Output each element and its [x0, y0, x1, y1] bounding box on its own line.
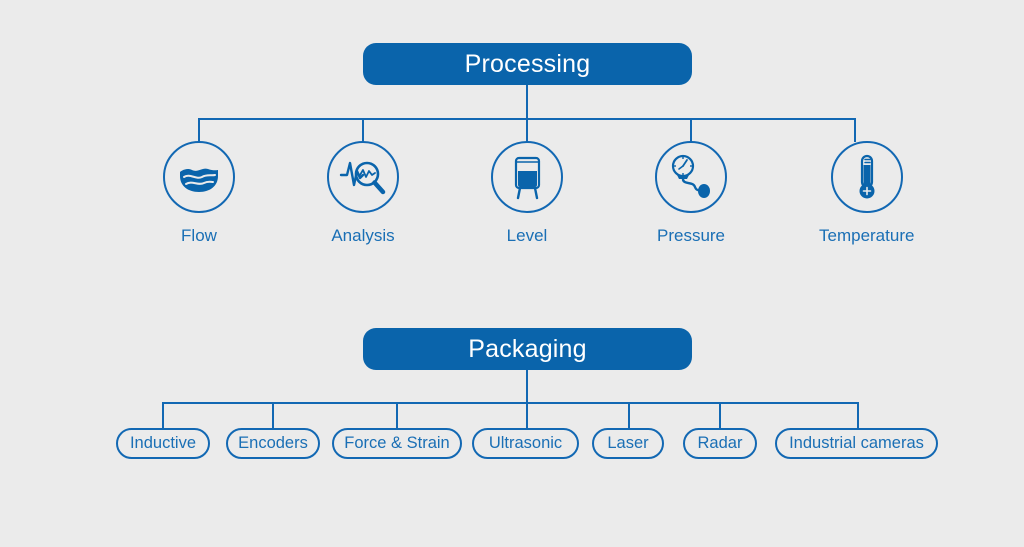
chip-radar[interactable]: Radar	[683, 428, 757, 459]
processing-drop-line-level	[526, 118, 528, 142]
chip-radar-label: Radar	[698, 434, 743, 453]
processing-drop-line-flow	[198, 118, 200, 142]
processing-drop-line-pressure	[690, 118, 692, 142]
packaging-drop-line-force-strain	[396, 402, 398, 429]
chip-inductive[interactable]: Inductive	[116, 428, 210, 459]
node-level[interactable]: Level	[491, 141, 563, 246]
flow-wave-icon	[176, 154, 222, 200]
analysis-magnifier-waveform-icon	[339, 153, 387, 201]
level-tank-icon	[505, 153, 549, 201]
chip-force-strain[interactable]: Force & Strain	[332, 428, 462, 459]
packaging-drop-line-ultrasonic	[526, 402, 528, 429]
node-temperature-circle	[831, 141, 903, 213]
chip-laser-label: Laser	[607, 434, 648, 453]
node-pressure[interactable]: Pressure	[655, 141, 727, 246]
chip-force-strain-label: Force & Strain	[344, 434, 449, 453]
node-analysis-circle	[327, 141, 399, 213]
chip-laser[interactable]: Laser	[592, 428, 664, 459]
packaging-drop-line-encoders	[272, 402, 274, 429]
processing-drop-line-analysis	[362, 118, 364, 142]
chip-ultrasonic-label: Ultrasonic	[489, 434, 562, 453]
group-header-packaging[interactable]: Packaging	[363, 328, 692, 370]
packaging-drop-line-radar	[719, 402, 721, 429]
node-pressure-label: Pressure	[657, 226, 725, 246]
temperature-thermometer-icon	[850, 153, 884, 201]
group-header-processing[interactable]: Processing	[363, 43, 692, 85]
node-analysis[interactable]: Analysis	[327, 141, 399, 246]
group-header-processing-label: Processing	[465, 50, 591, 79]
node-flow-label: Flow	[181, 226, 217, 246]
chip-industrial-cameras-label: Industrial cameras	[789, 434, 924, 453]
node-analysis-label: Analysis	[331, 226, 394, 246]
chip-encoders-label: Encoders	[238, 434, 308, 453]
processing-trunk-line	[526, 85, 528, 119]
chip-industrial-cameras[interactable]: Industrial cameras	[775, 428, 938, 459]
processing-drop-line-temperature	[854, 118, 856, 142]
diagram-canvas: Processing Flow Analysis	[0, 0, 1024, 547]
packaging-drop-line-inductive	[162, 402, 164, 429]
pressure-gauge-icon	[667, 153, 715, 201]
packaging-bus-line	[162, 402, 858, 404]
chip-inductive-label: Inductive	[130, 434, 196, 453]
node-temperature[interactable]: Temperature	[819, 141, 914, 246]
group-header-packaging-label: Packaging	[468, 335, 587, 364]
node-level-circle	[491, 141, 563, 213]
node-flow[interactable]: Flow	[163, 141, 235, 246]
node-pressure-circle	[655, 141, 727, 213]
chip-ultrasonic[interactable]: Ultrasonic	[472, 428, 579, 459]
packaging-drop-line-laser	[628, 402, 630, 429]
packaging-drop-line-industrial-cameras	[857, 402, 859, 429]
chip-encoders[interactable]: Encoders	[226, 428, 320, 459]
node-level-label: Level	[507, 226, 548, 246]
node-flow-circle	[163, 141, 235, 213]
node-temperature-label: Temperature	[819, 226, 914, 246]
packaging-trunk-line	[526, 370, 528, 403]
